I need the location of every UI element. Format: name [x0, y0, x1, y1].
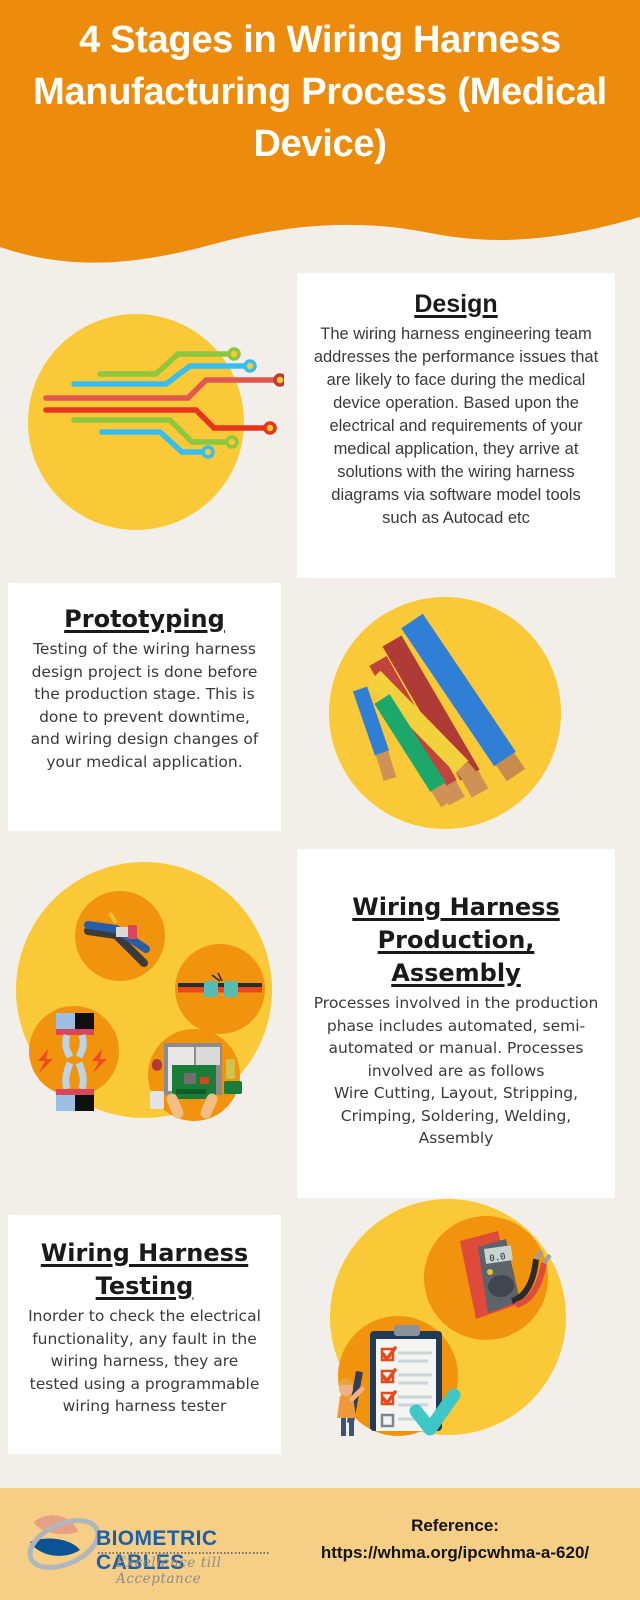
stage-title-design: Design [313, 287, 599, 321]
header-wave-divider [0, 213, 640, 272]
production-illustration [12, 853, 284, 1125]
stage-title-testing: Wiring Harness Testing [24, 1237, 265, 1303]
prototyping-illustration [320, 589, 570, 837]
stage-card-design: Design The wiring harness engineering te… [297, 273, 615, 578]
production-collage-icon [12, 853, 284, 1125]
header-banner: 4 Stages in Wiring Harness Manufacturing… [0, 0, 640, 272]
wiring-diagram-icon [18, 302, 284, 542]
stripped-cables-icon [320, 589, 570, 837]
reference-text: Reference: https://whma.org/ipcwhma-a-62… [280, 1512, 630, 1566]
stage-body-testing: Inorder to check the electrical function… [24, 1305, 265, 1418]
brand-tagline: Excellence till Acceptance [116, 1555, 270, 1587]
stage-body-design: The wiring harness engineering team addr… [313, 323, 599, 530]
footer-bar: BIOMETRIC CABLES Excellence till Accepta… [0, 1488, 640, 1600]
brand-logo: BIOMETRIC CABLES Excellence till Accepta… [20, 1508, 270, 1582]
testing-illustration: 0.0 [320, 1193, 570, 1438]
stage-title-prototyping: Prototyping [24, 603, 265, 636]
page-title: 4 Stages in Wiring Harness Manufacturing… [0, 14, 640, 170]
design-illustration [18, 302, 284, 542]
stage-card-prototyping: Prototyping Testing of the wiring harnes… [8, 583, 281, 831]
stage-body-production: Processes involved in the production pha… [313, 992, 599, 1150]
stage-card-production: Wiring Harness Production, Assembly Proc… [297, 849, 615, 1198]
brand-divider [98, 1552, 270, 1554]
multimeter-checklist-icon: 0.0 [320, 1193, 570, 1438]
stage-card-testing: Wiring Harness Testing Inorder to check … [8, 1215, 281, 1454]
stage-body-prototyping: Testing of the wiring harness design pro… [24, 638, 265, 773]
stage-title-production: Wiring Harness Production, Assembly [313, 891, 599, 990]
